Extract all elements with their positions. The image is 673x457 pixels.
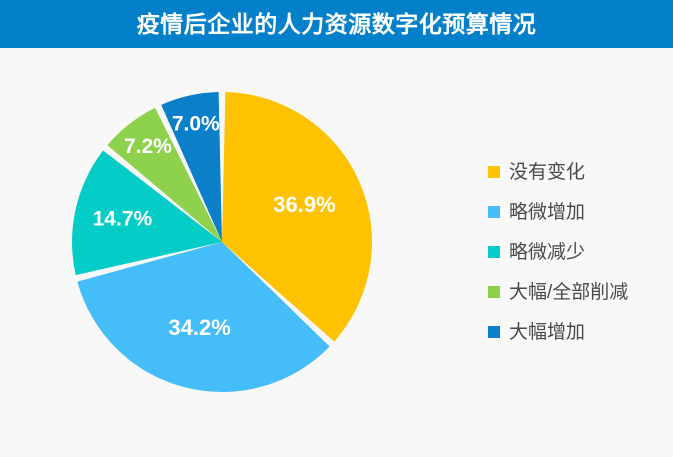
chart-container: 疫情后企业的人力资源数字化预算情况 36.9%34.2%14.7%7.2%7.0… <box>0 0 673 457</box>
legend-item[interactable]: 没有变化 <box>488 152 673 192</box>
pie-slice-value-label: 7.0% <box>172 112 220 135</box>
legend-item-label: 略微减少 <box>509 243 585 262</box>
pie-chart-svg: 36.9%34.2%14.7%7.2%7.0% <box>0 48 460 457</box>
legend-swatch-icon <box>488 166 500 178</box>
legend-swatch-icon <box>488 206 500 218</box>
page-title: 疫情后企业的人力资源数字化预算情况 <box>137 13 537 36</box>
chart-title-bar: 疫情后企业的人力资源数字化预算情况 <box>0 0 673 48</box>
legend-item[interactable]: 大幅/全部削减 <box>488 272 673 312</box>
pie-slice-value-label: 14.7% <box>93 208 153 231</box>
pie-slice-value-label: 34.2% <box>168 315 230 340</box>
legend-item[interactable]: 大幅增加 <box>488 312 673 352</box>
legend-item-label: 大幅/全部削减 <box>509 283 628 302</box>
legend-item-label: 大幅增加 <box>509 323 585 342</box>
legend-item[interactable]: 略微增加 <box>488 192 673 232</box>
pie-slice-group <box>72 92 372 392</box>
chart-legend: 没有变化略微增加略微减少大幅/全部削减大幅增加 <box>488 152 673 352</box>
legend-item-label: 略微增加 <box>509 203 585 222</box>
legend-item-label: 没有变化 <box>509 163 585 182</box>
legend-swatch-icon <box>488 326 500 338</box>
pie-slice-value-label: 7.2% <box>124 135 172 158</box>
pie-slice-value-label: 36.9% <box>273 192 335 217</box>
legend-swatch-icon <box>488 246 500 258</box>
pie-chart-plot-area: 36.9%34.2%14.7%7.2%7.0% <box>0 48 460 457</box>
legend-swatch-icon <box>488 286 500 298</box>
legend-item[interactable]: 略微减少 <box>488 232 673 272</box>
